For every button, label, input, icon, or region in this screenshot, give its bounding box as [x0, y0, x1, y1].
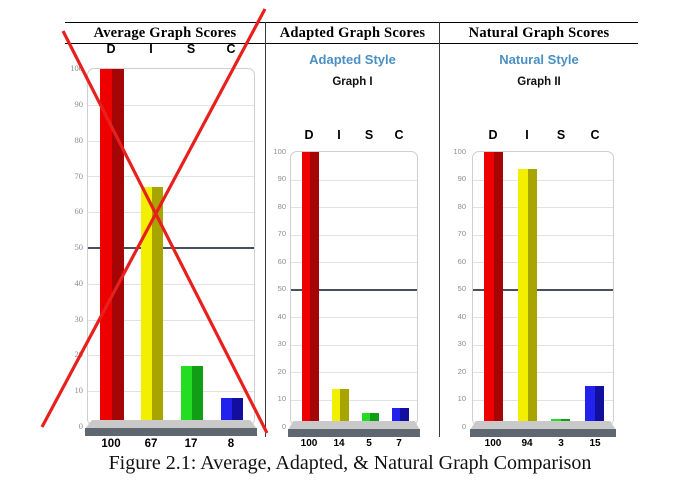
bar-group-adapted: [295, 152, 415, 426]
ytick-80: 80: [264, 203, 286, 211]
ytick-0: 0: [57, 422, 83, 431]
bar-d: [484, 152, 503, 426]
value-label-c: 8: [211, 438, 251, 450]
platform-front: [85, 428, 257, 436]
value-label-i: 94: [510, 438, 544, 449]
value-label-c: 15: [578, 438, 612, 449]
figure-caption: Figure 2.1: Average, Adapted, & Natural …: [0, 452, 700, 475]
bar-slot-d: [477, 152, 511, 426]
disc-label-c: C: [211, 42, 251, 56]
chart-platform-natural: [470, 421, 616, 437]
ytick-90: 90: [57, 100, 83, 109]
bar-slot-c: [385, 152, 415, 426]
figure-container: Average Graph Scores Adapted Graph Score…: [0, 0, 700, 498]
value-labels-adapted: 100 14 5 7: [294, 438, 414, 449]
ytick-40: 40: [57, 279, 83, 288]
column-header-adapted: Adapted Graph Scores: [266, 24, 439, 43]
bar-c: [585, 386, 604, 426]
ytick-90: 90: [264, 175, 286, 183]
value-label-d: 100: [476, 438, 510, 449]
bar-slot-i: [325, 152, 355, 426]
chart-plot-natural: [472, 151, 614, 426]
value-label-i: 14: [324, 438, 354, 449]
column-header-average: Average Graph Scores: [65, 24, 265, 43]
bar-slot-i: [132, 69, 172, 426]
disc-labels-average: D I S C: [91, 42, 251, 56]
disc-label-s: S: [171, 42, 211, 56]
chart-platform-average: [85, 420, 257, 437]
disc-label-i: I: [510, 128, 544, 142]
ytick-90: 90: [444, 175, 466, 183]
bar-group-average: [92, 69, 252, 426]
ytick-60: 60: [264, 258, 286, 266]
bar-slot-d: [92, 69, 132, 426]
ytick-60: 60: [444, 258, 466, 266]
ytick-10: 10: [57, 386, 83, 395]
disc-label-i: I: [131, 42, 171, 56]
chart-plot-adapted: [290, 151, 418, 426]
platform-front: [470, 429, 616, 437]
ytick-80: 80: [57, 136, 83, 145]
comparison-table-frame: Average Graph Scores Adapted Graph Score…: [65, 22, 638, 437]
ytick-0: 0: [444, 423, 466, 431]
ytick-70: 70: [264, 230, 286, 238]
bar-i-side: [528, 169, 537, 427]
value-label-i: 67: [131, 438, 171, 450]
bar-d: [100, 69, 124, 426]
bar-slot-i: [511, 152, 545, 426]
ytick-40: 40: [444, 313, 466, 321]
ytick-20: 20: [264, 368, 286, 376]
disc-label-s: S: [354, 128, 384, 142]
ytick-30: 30: [264, 340, 286, 348]
ytick-100: 100: [57, 64, 83, 73]
value-label-s: 17: [171, 438, 211, 450]
value-labels-natural: 100 94 3 15: [476, 438, 612, 449]
bar-group-natural: [477, 152, 611, 426]
panel-average: D I S C: [65, 44, 265, 437]
bar-slot-s: [355, 152, 385, 426]
bar-s-face: [181, 366, 192, 426]
bar-i-face: [518, 169, 528, 427]
disc-label-d: D: [91, 42, 131, 56]
ytick-10: 10: [264, 395, 286, 403]
chart-plot-average: [87, 68, 255, 426]
ytick-50: 50: [264, 285, 286, 293]
chart-platform-adapted: [288, 421, 420, 437]
disc-label-d: D: [294, 128, 324, 142]
disc-label-d: D: [476, 128, 510, 142]
bar-d-side: [310, 152, 318, 426]
disc-label-i: I: [324, 128, 354, 142]
ytick-30: 30: [444, 340, 466, 348]
disc-labels-adapted: D I S C: [294, 128, 414, 142]
ytick-100: 100: [444, 148, 466, 156]
ytick-100: 100: [264, 148, 286, 156]
ytick-20: 20: [444, 368, 466, 376]
ytick-80: 80: [444, 203, 466, 211]
table-top-rule: [65, 22, 638, 23]
bar-d-side: [494, 152, 503, 426]
ytick-10: 10: [444, 395, 466, 403]
style-title-adapted: Adapted Style: [266, 52, 439, 67]
bar-s-side: [192, 366, 203, 426]
disc-label-c: C: [578, 128, 612, 142]
ytick-50: 50: [444, 285, 466, 293]
bar-i: [518, 169, 537, 427]
platform-front: [288, 429, 420, 437]
ytick-20: 20: [57, 350, 83, 359]
disc-label-c: C: [384, 128, 414, 142]
ytick-70: 70: [444, 230, 466, 238]
disc-labels-natural: D I S C: [476, 128, 612, 142]
graph-title-natural: Graph II: [440, 76, 638, 88]
style-title-natural: Natural Style: [440, 52, 638, 67]
value-label-d: 100: [294, 438, 324, 449]
bar-slot-s: [544, 152, 578, 426]
value-label-c: 7: [384, 438, 414, 449]
value-label-s: 5: [354, 438, 384, 449]
ytick-0: 0: [264, 423, 286, 431]
ytick-30: 30: [57, 315, 83, 324]
bar-c-face: [585, 386, 595, 426]
bar-s: [181, 366, 203, 426]
ytick-70: 70: [57, 172, 83, 181]
panel-adapted: Adapted Style Graph I D I S C: [266, 44, 439, 437]
bar-slot-c: [212, 69, 252, 426]
bar-slot-s: [172, 69, 212, 426]
ytick-50: 50: [57, 243, 83, 252]
bar-slot-c: [578, 152, 612, 426]
ytick-40: 40: [264, 313, 286, 321]
bar-slot-d: [295, 152, 325, 426]
bar-d-face: [100, 69, 112, 426]
ytick-60: 60: [57, 207, 83, 216]
column-header-natural: Natural Graph Scores: [440, 24, 638, 43]
bar-i: [141, 187, 163, 426]
bar-d-side: [112, 69, 124, 426]
disc-label-s: S: [544, 128, 578, 142]
bar-i-face: [141, 187, 152, 426]
bar-i-side: [152, 187, 163, 426]
bar-c-side: [595, 386, 604, 426]
bar-d-face: [302, 152, 311, 426]
bar-d: [302, 152, 319, 426]
value-label-d: 100: [91, 438, 131, 450]
bar-d-face: [484, 152, 494, 426]
value-label-s: 3: [544, 438, 578, 449]
panel-natural: Natural Style Graph II D I S C: [440, 44, 638, 437]
value-labels-average: 100 67 17 8: [91, 438, 251, 450]
graph-title-adapted: Graph I: [266, 76, 439, 88]
